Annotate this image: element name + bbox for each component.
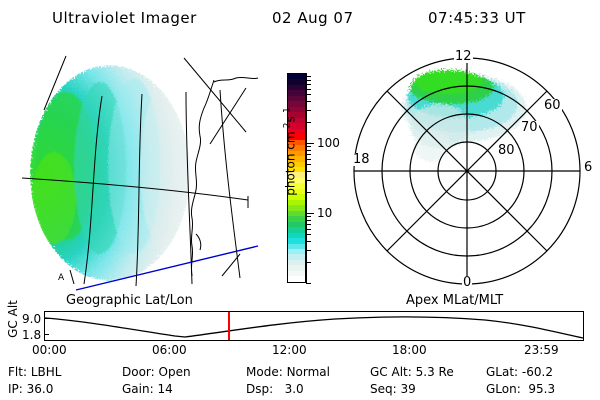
status-glon-key: GLon: [486, 382, 521, 396]
xtick-label-2: 12:00 [272, 344, 307, 356]
colorbar-tick-minor [306, 80, 311, 81]
status-door-value: Open [159, 365, 191, 379]
colorbar-tick-minor [306, 159, 311, 160]
colorbar-tick-minor [306, 171, 311, 172]
altitude-trace [45, 312, 583, 340]
orbit-altitude-strip-chart [44, 311, 584, 341]
status-dsp-value: 3.0 [285, 382, 304, 396]
status-gain: Gain: 14 [122, 383, 173, 395]
status-dsp: Dsp: 3.0 [246, 383, 304, 395]
colorbar-tick-minor [306, 216, 311, 217]
geographic-panel-subtitle: Geographic Lat/Lon [66, 293, 193, 308]
colorbar-tick-minor [306, 234, 311, 235]
polar-panel-subtitle: Apex MLat/MLT [406, 293, 503, 308]
colorbar-tick-minor [306, 192, 311, 193]
status-seq-key: Seq: [370, 382, 397, 396]
status-gain-value: 14 [157, 382, 172, 396]
xtick-label-1: 06:00 [152, 344, 187, 356]
mlat-label-70: 70 [520, 121, 539, 134]
colorbar-tick-minor [306, 110, 311, 111]
status-gcalt: GC Alt: 5.3 Re [370, 366, 454, 378]
xtick-label-3: 18:00 [392, 344, 427, 356]
header-bar: Ultraviolet Imager 02 Aug 07 07:45:33 UT [0, 6, 600, 32]
colorbar-tick-minor [306, 229, 311, 230]
polar-dial-panel: 12 6 0 18 60 70 80 [336, 48, 598, 293]
colorbar-tick-minor [306, 241, 311, 242]
colorbar-tick-minor [306, 150, 311, 151]
colorbar-tick-major [306, 143, 314, 144]
colorbar-tick-minor [306, 101, 311, 102]
geo-corner-label: A [58, 273, 65, 283]
mlt-label-0: 0 [462, 276, 472, 289]
colorbar-tick-minor [306, 76, 311, 77]
colorbar-tick-major [306, 213, 314, 214]
status-door-key: Door: [122, 365, 155, 379]
colorbar-axis [306, 73, 307, 283]
status-glat: GLat: -60.2 [486, 366, 553, 378]
polar-plot [336, 48, 598, 293]
status-flt-value: LBHL [31, 365, 62, 379]
status-glat-value: -60.2 [522, 365, 553, 379]
colorbar-tick-minor [306, 262, 311, 263]
status-door: Door: Open [122, 366, 191, 378]
status-gcalt-key: GC Alt: [370, 365, 412, 379]
mlt-label-18: 18 [352, 153, 371, 166]
colorbar-tick-minor [306, 122, 311, 123]
geographic-image-panel: A [14, 48, 266, 293]
strip-chart-ylabel: GC Alt [6, 294, 20, 344]
colorbar-tick-minor [306, 154, 311, 155]
colorbar-band [288, 276, 305, 281]
colorbar-title-exp2: -1 [283, 107, 293, 116]
status-glon: GLon: 95.3 [486, 383, 555, 395]
mlt-label-12: 12 [454, 50, 473, 63]
colorbar-tick-minor [306, 180, 311, 181]
status-seq-value: 39 [401, 382, 416, 396]
colorbar-tick-minor [306, 164, 311, 165]
current-time-marker [228, 312, 230, 340]
colorbar-tick-minor [306, 224, 311, 225]
colorbar-tick-minor [306, 283, 311, 284]
status-ip: IP: 36.0 [8, 383, 53, 395]
status-flt: Flt: LBHL [8, 366, 61, 378]
status-ip-key: IP: [8, 382, 23, 396]
colorbar-tick-minor [306, 94, 311, 95]
status-seq: Seq: 39 [370, 383, 416, 395]
mlt-label-6: 6 [583, 161, 593, 174]
status-footer: Flt: LBHL Door: Open Mode: Normal GC Alt… [0, 362, 600, 400]
ytick-label-high: 9.0 [22, 313, 41, 325]
colorbar-title-exp1: -2 [283, 122, 293, 131]
status-glon-value: 95.3 [528, 382, 555, 396]
mlat-label-60: 60 [543, 99, 562, 112]
geographic-plot: A [14, 48, 266, 293]
status-dsp-key: Dsp: [246, 382, 273, 396]
observation-date: 02 Aug 07 [272, 9, 354, 27]
status-glat-key: GLat: [486, 365, 518, 379]
colorbar-title: photon cm-2s-1 [283, 92, 298, 212]
instrument-title: Ultraviolet Imager [52, 9, 197, 27]
colorbar-tick-minor [306, 250, 311, 251]
aurora-emission-region [30, 65, 192, 281]
status-mode: Mode: Normal [246, 366, 330, 378]
xtick-label-4: 23:59 [524, 344, 559, 356]
colorbar-title-main: photon cm [284, 131, 298, 195]
colorbar: photon cm-2s-1 10010 [268, 48, 340, 296]
colorbar-tick-minor [306, 89, 311, 90]
colorbar-tick-label-1: 10 [317, 207, 332, 219]
mlat-label-80: 80 [497, 144, 516, 157]
observation-time: 07:45:33 UT [428, 9, 526, 27]
status-gcalt-value: 5.3 Re [416, 365, 454, 379]
status-gain-key: Gain: [122, 382, 154, 396]
status-flt-key: Flt: [8, 365, 27, 379]
mlt-spokes [354, 58, 580, 284]
status-mode-value: Normal [287, 365, 330, 379]
status-mode-key: Mode: [246, 365, 283, 379]
colorbar-tick-minor [306, 84, 311, 85]
ytick-label-low: 1.8 [22, 329, 41, 341]
colorbar-title-mid: s [284, 116, 298, 122]
colorbar-tick-minor [306, 220, 311, 221]
status-ip-value: 36.0 [27, 382, 54, 396]
xtick-label-0: 00:00 [32, 344, 67, 356]
colorbar-tick-minor [306, 146, 311, 147]
